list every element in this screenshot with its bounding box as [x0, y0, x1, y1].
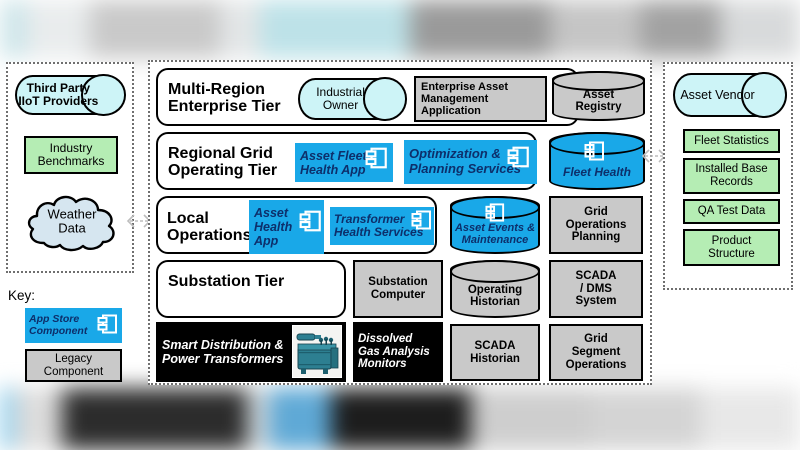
diagram-canvas: Third Party IIoT Providers Industry Benc…: [0, 0, 800, 450]
asset-health-line1: Asset: [254, 206, 288, 220]
grid-segment-ops-line2: Segment: [572, 346, 621, 358]
asset-health-line2: Health: [254, 220, 292, 234]
optimization-line1: Optimization &: [409, 146, 501, 161]
grid-operations-planning[interactable]: Grid Operations Planning: [549, 196, 643, 254]
dga-line2: Gas Analysis: [358, 346, 430, 358]
industrial-owner[interactable]: Industrial Owner: [298, 78, 406, 120]
operating-historian-line1: Operating: [468, 284, 522, 296]
asset-vendor[interactable]: Asset Vendor: [673, 73, 786, 117]
fleet-statistics-label: Fleet Statistics: [694, 135, 769, 147]
dga-line1: Dissolved: [358, 333, 412, 345]
product-structure-line1: Product: [712, 235, 752, 247]
tier2-label-line2: Operating Tier: [168, 162, 277, 179]
installed-base-line2: Records: [710, 176, 753, 188]
scada-historian[interactable]: SCADA Historian: [450, 324, 540, 381]
third-party-line2: IIoT Providers: [18, 94, 98, 108]
tier-regional-grid-operating[interactable]: Regional Grid Operating Tier Asset Fleet…: [156, 132, 537, 190]
scada-dms-line1: SCADA: [576, 270, 617, 282]
substation-computer-line2: Computer: [371, 289, 425, 301]
key-app-line1: App Store: [29, 313, 79, 325]
tier-substation[interactable]: Substation Tier: [156, 260, 346, 318]
grid-segment-ops-line1: Grid: [584, 333, 608, 345]
third-party-line1: Third Party: [27, 81, 90, 95]
industrial-owner-line2: Owner: [323, 98, 358, 112]
installed-base-records[interactable]: Installed Base Records: [683, 158, 780, 194]
third-party-iiot-providers[interactable]: Third Party IIoT Providers: [15, 75, 125, 115]
industry-benchmarks[interactable]: Industry Benchmarks: [24, 136, 118, 174]
grid-ops-planning-line2: Operations: [566, 219, 627, 231]
asset-vendor-label: Asset Vendor: [680, 88, 754, 102]
enterprise-asset-management-application[interactable]: Enterprise Asset Management Application: [414, 76, 547, 122]
asset-vendor-panel: Asset Vendor Fleet Statistics Installed …: [663, 62, 793, 290]
transformer-hs-line1: Transformer: [334, 212, 404, 226]
external-data-sources-panel: Third Party IIoT Providers Industry Benc…: [6, 62, 134, 273]
qa-test-data[interactable]: QA Test Data: [683, 199, 780, 224]
blurred-top-band: [0, 0, 800, 58]
eam-line2: Management: [421, 93, 488, 105]
key-app-line2: Component: [29, 325, 87, 337]
transformer-hs-line2: Health Services: [334, 225, 423, 239]
key-title: Key:: [8, 288, 35, 303]
weather-data-line2: Data: [58, 221, 85, 236]
key-legacy-component: Legacy Component: [25, 349, 122, 382]
substation-computer-line1: Substation: [368, 276, 427, 288]
tier3-label-line1: Local: [167, 210, 209, 227]
asset-fleet-line1: Asset Fleet: [300, 149, 367, 163]
tier4-label-line1: Substation Tier: [168, 273, 284, 290]
dissolved-gas-analysis-monitors[interactable]: Dissolved Gas Analysis Monitors: [353, 322, 443, 382]
weather-data-line1: Weather: [48, 207, 97, 222]
industrial-owner-line1: Industrial: [316, 85, 365, 99]
tier1-label-line2: Enterprise Tier: [168, 98, 281, 115]
industry-benchmarks-line1: Industry: [50, 141, 93, 155]
scada-historian-line1: SCADA: [475, 340, 516, 352]
tier-label-local-operations: Local Operations: [167, 210, 251, 245]
key-app-store-component: App Store Component: [25, 308, 122, 343]
fleet-health-label: Fleet Health: [563, 165, 631, 179]
key-legacy-line1: Legacy: [55, 353, 92, 365]
fleet-health[interactable]: Fleet Health: [549, 132, 645, 190]
tier-local-operations[interactable]: Local Operations Asset Health App Transf…: [156, 196, 437, 254]
scada-dms-system[interactable]: SCADA / DMS System: [549, 260, 643, 318]
grid-segment-operations[interactable]: Grid Segment Operations: [549, 324, 643, 381]
scada-dms-line2: / DMS: [580, 283, 612, 295]
product-structure-line2: Structure: [708, 248, 755, 260]
tier2-label-line1: Regional Grid: [168, 145, 273, 162]
asset-registry-line2: Registry: [575, 101, 621, 113]
asset-events-line2: Maintenance: [462, 234, 529, 246]
substation-computer[interactable]: Substation Computer: [353, 260, 443, 318]
installed-base-line1: Installed Base: [695, 163, 767, 175]
eam-line1: Enterprise Asset: [421, 81, 508, 93]
operating-historian[interactable]: Operating Historian: [450, 260, 540, 318]
asset-events-line1: Asset Events &: [455, 222, 535, 234]
tier1-label-line1: Multi-Region: [168, 81, 265, 98]
product-structure[interactable]: Product Structure: [683, 229, 780, 266]
tier3-label-line2: Operations: [167, 227, 251, 244]
fleet-statistics[interactable]: Fleet Statistics: [683, 129, 780, 153]
dga-line3: Monitors: [358, 358, 407, 370]
operating-historian-line2: Historian: [470, 296, 520, 308]
asset-health-line3: App: [254, 234, 278, 248]
smart-transformers-line1: Smart Distribution &: [162, 338, 284, 352]
grid-ops-planning-line1: Grid: [584, 206, 608, 218]
optimization-planning-services[interactable]: Optimization & Planning Services: [404, 140, 537, 184]
scada-dms-line3: System: [576, 295, 617, 307]
asset-events-maintenance[interactable]: Asset Events & Maintenance: [450, 196, 540, 254]
blurred-bottom-band: [0, 388, 800, 450]
key-legacy-line2: Component: [44, 366, 103, 378]
asset-fleet-line2: Health App: [300, 163, 366, 177]
tier-label-regional-grid: Regional Grid Operating Tier: [168, 145, 277, 180]
grid-segment-ops-line3: Operations: [566, 359, 627, 371]
weather-data[interactable]: Weather Data: [22, 191, 122, 253]
enterprise-architecture-panel: Multi-Region Enterprise Tier Industrial …: [148, 60, 652, 385]
asset-registry[interactable]: Asset Registry: [552, 71, 645, 121]
asset-registry-line1: Asset: [583, 89, 614, 101]
qa-test-data-label: QA Test Data: [698, 205, 766, 217]
asset-fleet-health-app[interactable]: Asset Fleet Health App: [295, 143, 393, 182]
tier-multi-region-enterprise[interactable]: Multi-Region Enterprise Tier Industrial …: [156, 68, 579, 126]
tier-label-multi-region-enterprise: Multi-Region Enterprise Tier: [168, 81, 281, 116]
smart-transformers-line2: Power Transformers: [162, 352, 283, 366]
optimization-line2: Planning Services: [409, 161, 521, 176]
transformer-health-services[interactable]: Transformer Health Services: [330, 207, 434, 245]
grid-ops-planning-line3: Planning: [572, 231, 621, 243]
power-transformer-photo: [292, 325, 342, 378]
eam-line3: Application: [421, 105, 481, 117]
asset-health-app[interactable]: Asset Health App: [249, 200, 324, 254]
tier-label-substation: Substation Tier: [168, 273, 284, 290]
scada-historian-line2: Historian: [470, 353, 520, 365]
industry-benchmarks-line2: Benchmarks: [38, 154, 105, 168]
